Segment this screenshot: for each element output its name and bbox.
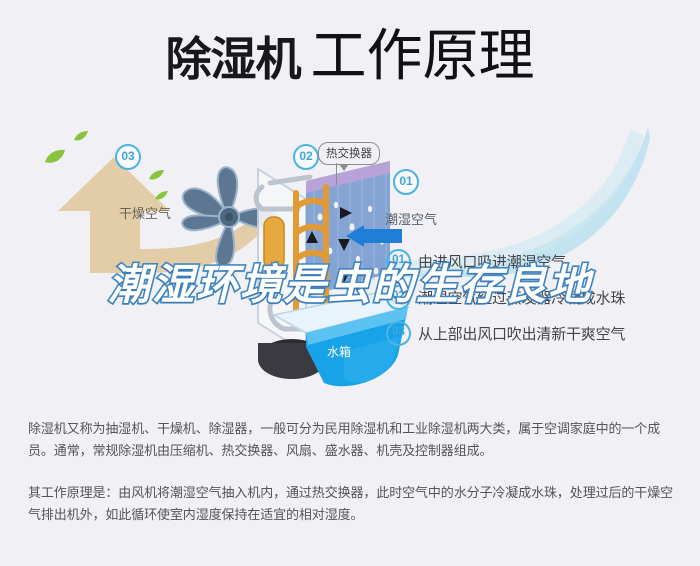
legend-badge-03: 03	[386, 321, 411, 346]
callout-stem	[336, 163, 337, 185]
leaf-icon	[44, 149, 66, 165]
legend-item: 03 从上部出风口吹出清新干爽空气	[386, 315, 686, 351]
page-title-strong: 除湿机	[166, 33, 301, 85]
leaf-icon	[74, 131, 88, 142]
leaf-icon	[149, 170, 164, 181]
heat-exchanger-callout: 热交换器	[318, 142, 380, 165]
page-title-light: 工作原理	[311, 24, 535, 87]
leaf-icon	[155, 191, 168, 201]
body-paragraph-1: 除湿机又称为抽湿机、干燥机、除湿器，一般可分为民用除湿机和工业除湿机两大类，属于…	[28, 418, 678, 462]
overlay-headline: 潮湿环境是虫的生存良地	[0, 264, 700, 306]
diagram-badge-02: 02	[293, 144, 319, 170]
water-tank-label: 水箱	[327, 343, 351, 360]
body-paragraph-2: 其工作原理是：由风机将潮湿空气抽入机内，通过热交换器，此时空气中的水分子冷凝成水…	[28, 482, 678, 526]
legend-text-03: 从上部出风口吹出清新干爽空气	[418, 323, 625, 344]
page-title: 除湿机工作原理	[0, 28, 700, 84]
humid-air-label: 潮湿空气	[385, 209, 437, 228]
dry-air-label: 干燥空气	[119, 203, 171, 222]
diagram-badge-01: 01	[393, 169, 419, 195]
diagram-badge-03: 03	[115, 144, 141, 170]
